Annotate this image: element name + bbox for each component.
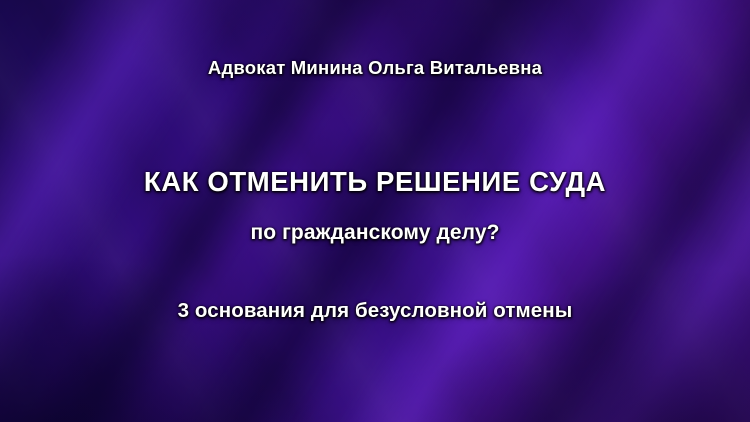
text-block: Адвокат Минина Ольга Витальевна КАК ОТМЕ… <box>0 0 750 422</box>
tagline: 3 основания для безусловной отмены <box>0 299 750 323</box>
subheadline: по гражданскому делу? <box>0 221 750 245</box>
author-line: Адвокат Минина Ольга Витальевна <box>0 57 750 79</box>
title-slide: Адвокат Минина Ольга Витальевна КАК ОТМЕ… <box>0 0 750 422</box>
headline: КАК ОТМЕНИТЬ РЕШЕНИЕ СУДА <box>0 166 750 198</box>
